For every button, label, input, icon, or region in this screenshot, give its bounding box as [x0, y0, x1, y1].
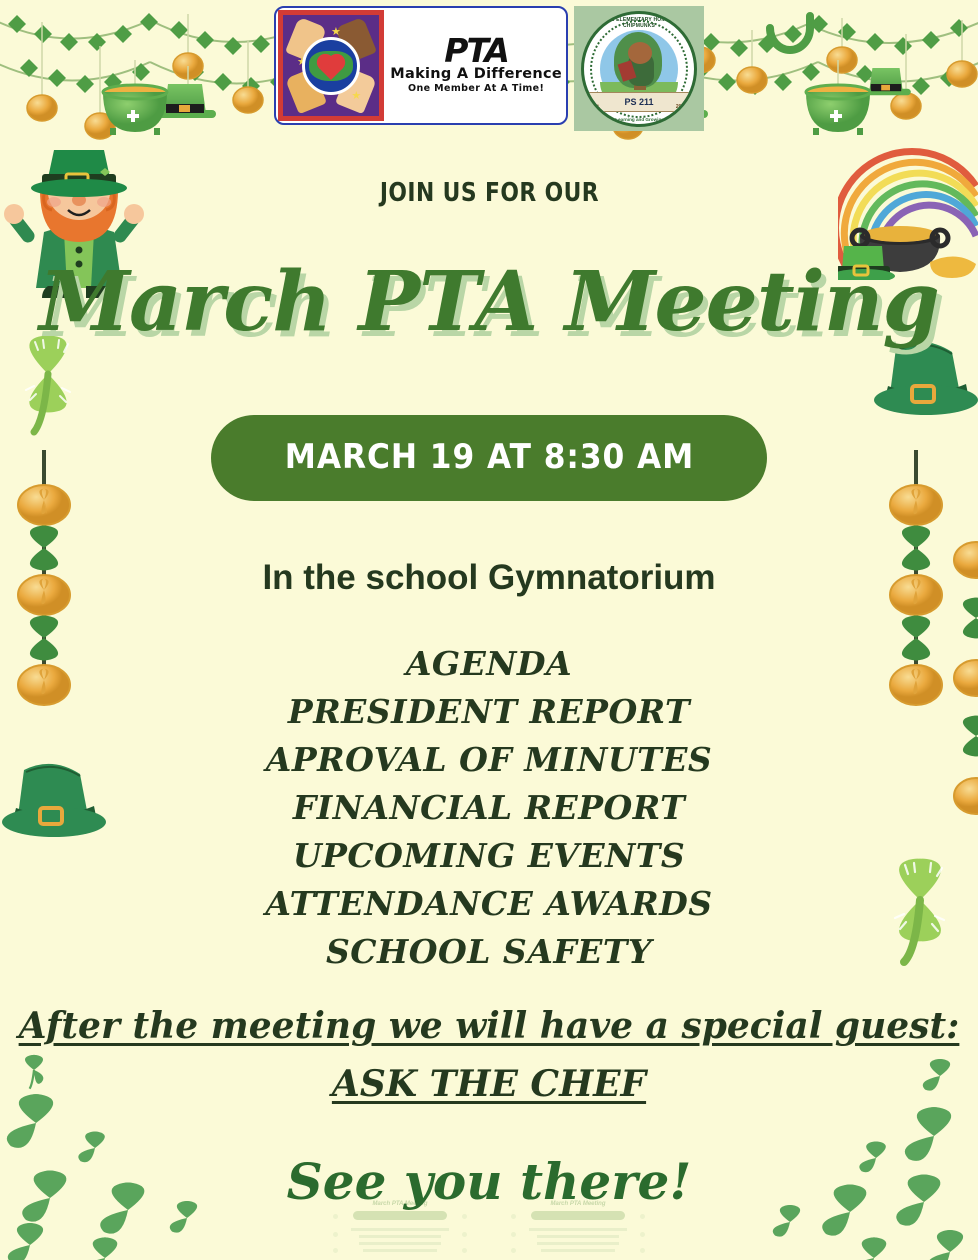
agenda-list: AGENDA PRESIDENT REPORT APROVAL OF MINUT…	[0, 640, 978, 976]
pta-wordmark: PTA	[444, 35, 508, 66]
list-item: PRESIDENT REPORT	[0, 688, 978, 736]
closing-text: See you there!	[0, 1152, 978, 1211]
pta-logo: ★ ★ ★ ★ PTA Making A Difference One Memb…	[274, 6, 568, 125]
seal-school-number: PS 211	[624, 97, 653, 107]
special-guest-intro: After the meeting we will have a special…	[0, 1005, 978, 1047]
list-item: FINANCIAL REPORT	[0, 784, 978, 832]
pta-tagline-line1: Making A Difference	[390, 67, 562, 83]
leprechaun-top-hat-icon	[874, 342, 978, 415]
list-item: APROVAL OF MINUTES	[0, 736, 978, 784]
logo-row: ★ ★ ★ ★ PTA Making A Difference One Memb…	[0, 6, 978, 131]
eyebrow-text: JOIN US FOR OUR	[0, 178, 978, 208]
seal-ring-text: ELM TREE ELEMENTARY HOME OF THE CHIPMUNK…	[584, 17, 694, 29]
flyer-poster: March PTA Meeting March PTA Meeting	[0, 0, 978, 1260]
seal-est-year: 2013	[676, 104, 687, 110]
ghost-thumbnail-pill	[353, 1211, 447, 1220]
seal-est-label: Est.	[591, 104, 600, 110]
location-text: In the school Gymnatorium	[0, 558, 978, 598]
list-item: SCHOOL SAFETY	[0, 928, 978, 976]
date-time-badge: MARCH 19 AT 8:30 AM	[211, 415, 768, 501]
page-title: March PTA Meeting	[0, 254, 978, 350]
pta-tagline-line2: One Member At A Time!	[408, 83, 544, 94]
list-item: ATTENDANCE AWARDS	[0, 880, 978, 928]
list-item: UPCOMING EVENTS	[0, 832, 978, 880]
school-seal: ELM TREE ELEMENTARY HOME OF THE CHIPMUNK…	[574, 6, 704, 131]
pta-hands-globe-icon: ★ ★ ★ ★	[278, 10, 384, 121]
ghost-thumbnail-pill	[531, 1211, 625, 1220]
list-item: AGENDA	[0, 640, 978, 688]
special-guest-name: ASK THE CHEF	[0, 1063, 978, 1105]
seal-motto: Planning, Learning and Growing Together	[584, 117, 694, 122]
